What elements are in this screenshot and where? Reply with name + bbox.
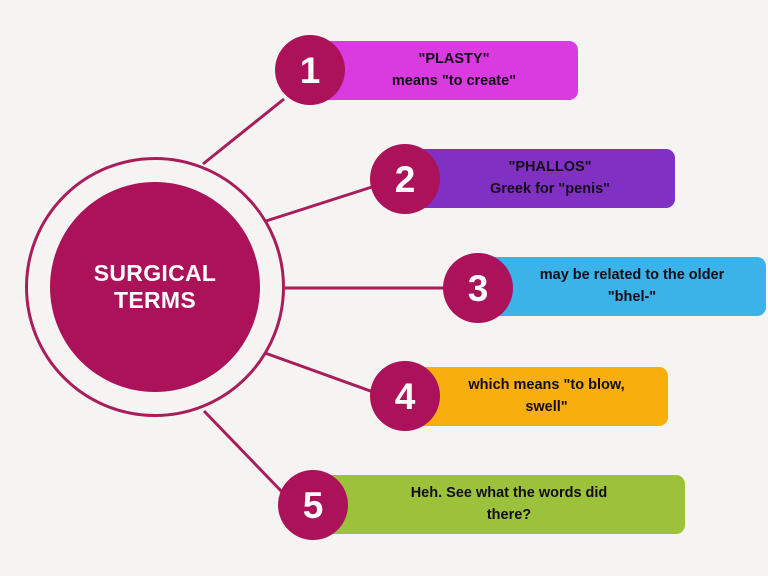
badge-4[interactable]: 4 (370, 361, 440, 431)
connector-line-4 (265, 353, 376, 393)
card-3-text: may be related to the older "bhel-" (540, 265, 725, 307)
badge-4-number: 4 (395, 378, 416, 415)
connector-line-1 (203, 99, 284, 164)
card-5[interactable]: Heh. See what the words did there? (313, 475, 685, 534)
card-1[interactable]: "PLASTY" means "to create" (310, 41, 578, 100)
card-2[interactable]: "PHALLOS" Greek for "penis" (405, 149, 675, 208)
card-2-text: "PHALLOS" Greek for "penis" (490, 157, 610, 199)
badge-2-number: 2 (395, 161, 416, 198)
badge-1-number: 1 (300, 52, 321, 89)
card-3[interactable]: may be related to the older "bhel-" (478, 257, 766, 316)
hub-title: SURGICAL TERMS (94, 260, 217, 314)
infographic-canvas: SURGICAL TERMS "PLASTY" means "to create… (0, 0, 768, 576)
badge-2[interactable]: 2 (370, 144, 440, 214)
card-5-text: Heh. See what the words did there? (411, 483, 608, 525)
badge-5-number: 5 (303, 487, 324, 524)
badge-1[interactable]: 1 (275, 35, 345, 105)
badge-3[interactable]: 3 (443, 253, 513, 323)
card-4-text: which means "to blow, swell" (468, 375, 624, 417)
badge-3-number: 3 (468, 270, 489, 307)
badge-5[interactable]: 5 (278, 470, 348, 540)
connector-line-5 (204, 411, 285, 495)
card-4[interactable]: which means "to blow, swell" (405, 367, 668, 426)
connector-line-2 (266, 186, 375, 221)
hub-circle: SURGICAL TERMS (50, 182, 260, 392)
card-1-text: "PLASTY" means "to create" (392, 49, 516, 91)
